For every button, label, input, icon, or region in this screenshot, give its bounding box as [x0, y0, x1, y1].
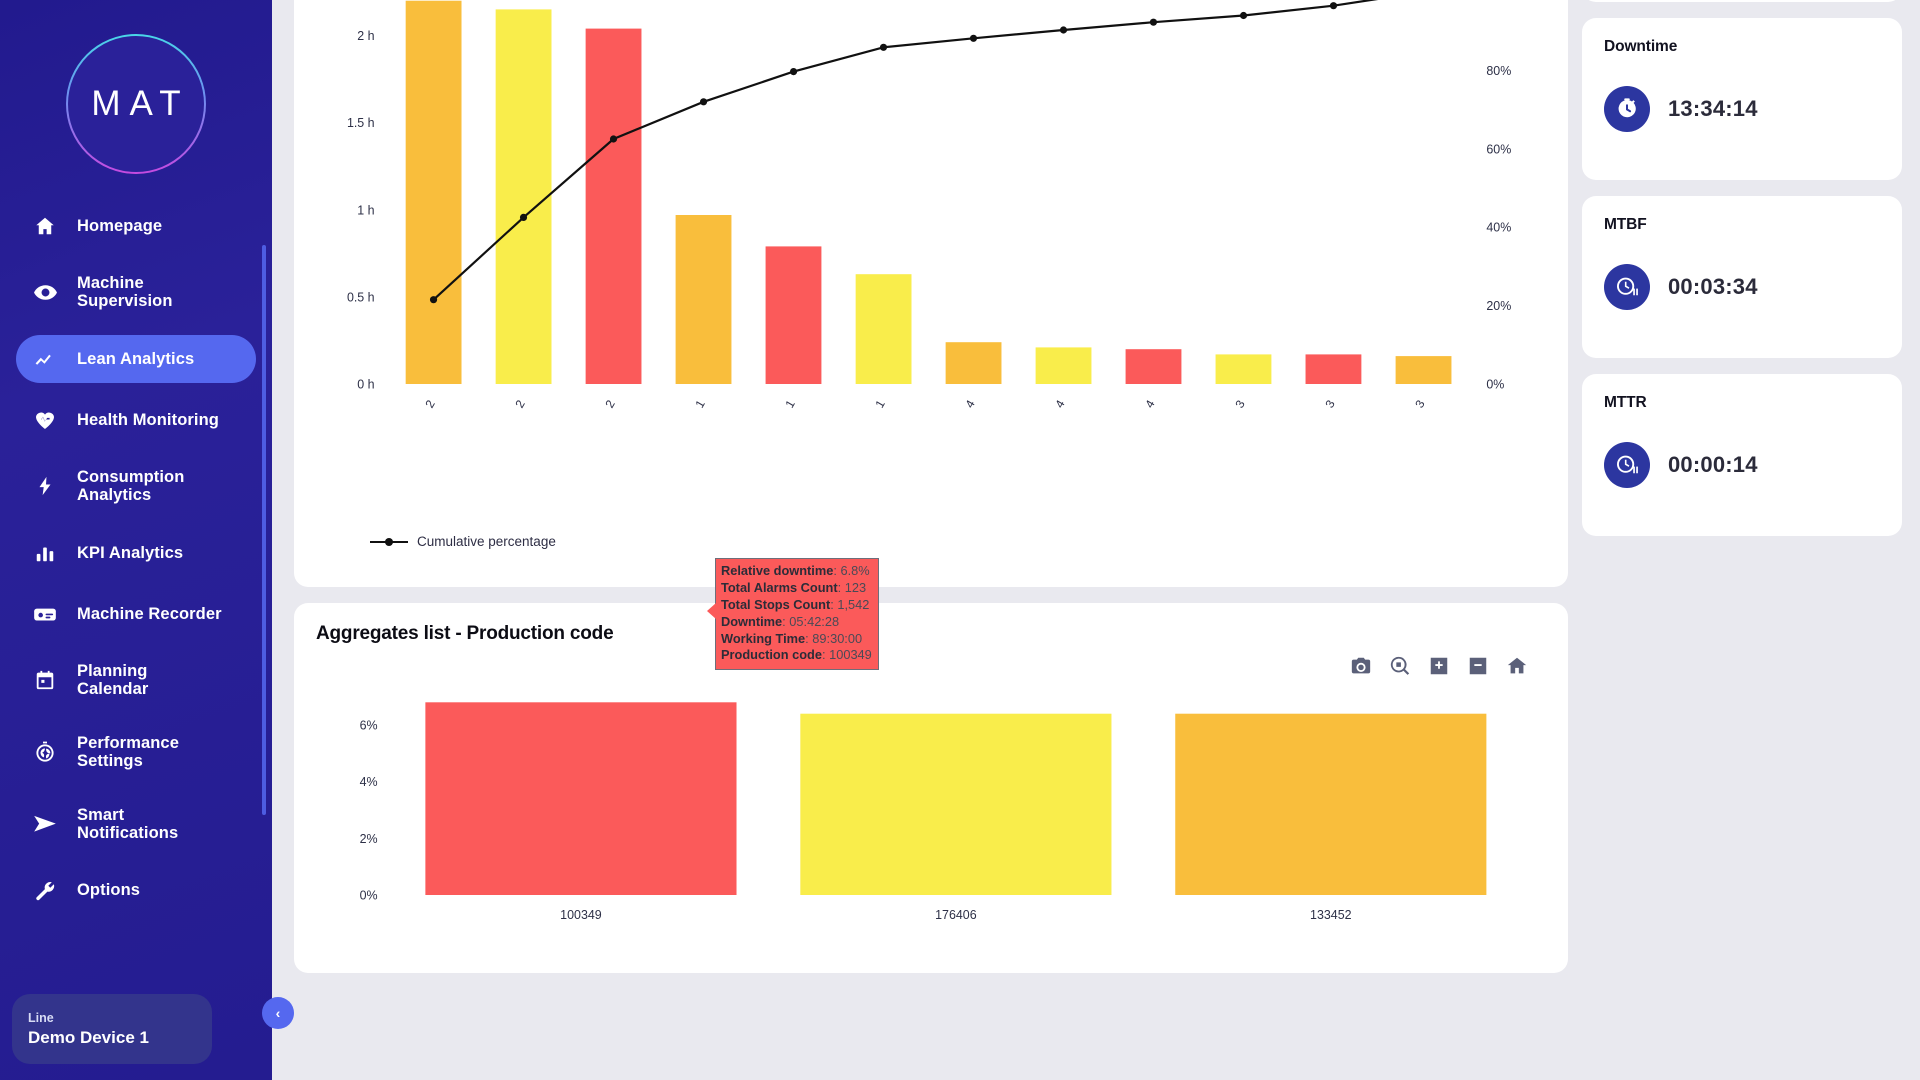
tooltip-row: Relative downtime: 6.8% — [721, 563, 872, 580]
zoom-select-icon[interactable] — [1389, 655, 1411, 677]
pareto-legend[interactable]: Cumulative percentage — [370, 534, 556, 549]
legend-label: Cumulative percentage — [417, 534, 556, 549]
kpi-card-mtbf: MTBF00:03:34 — [1582, 196, 1902, 358]
aggregates-x-axis: 100349176406133452 — [560, 908, 1351, 922]
svg-text:1: 1 — [872, 397, 888, 410]
send-icon — [30, 811, 60, 837]
tooltip-label: Working Time — [721, 631, 805, 646]
sidebar-item-health-monitoring[interactable]: Health Monitoring — [16, 396, 256, 444]
kpi-value: 00:00:14 — [1668, 452, 1758, 478]
aggregates-chart-svg[interactable]: 0%2%4%6% 100349176406133452 — [294, 683, 1568, 953]
svg-text:4%: 4% — [360, 775, 378, 789]
pareto-bar[interactable] — [676, 215, 732, 384]
svg-text:176406: 176406 — [935, 908, 977, 922]
recorder-icon — [30, 601, 60, 627]
app-logo: MAT — [66, 34, 206, 174]
clock-pause-icon — [1604, 264, 1650, 310]
kpi-title: Downtime — [1604, 38, 1880, 56]
pareto-y2-axis: 0%20%40%60%80%100% — [1486, 0, 1518, 392]
sidebar-item-label: Machine Recorder — [77, 605, 222, 623]
tooltip-value: 1,542 — [837, 597, 869, 612]
logo-text: MAT — [82, 84, 189, 124]
pareto-bar[interactable] — [946, 342, 1002, 384]
tooltip-value: 89:30:00 — [812, 631, 862, 646]
sidebar-scrollbar[interactable] — [262, 245, 266, 815]
sidebar-nav: HomepageMachine SupervisionLean Analytic… — [0, 202, 272, 928]
right-column: Downtime13:34:14MTBF00:03:34MTTR00:00:14 — [1582, 0, 1902, 1080]
kpi-list: Downtime13:34:14MTBF00:03:34MTTR00:00:14 — [1582, 18, 1902, 536]
eye-icon — [30, 279, 60, 305]
clock-pause-icon — [1604, 442, 1650, 488]
kpi-body: 13:34:14 — [1604, 86, 1880, 132]
home-icon — [30, 213, 60, 239]
svg-text:4: 4 — [1142, 397, 1158, 410]
aggregates-bars[interactable] — [425, 702, 1486, 895]
home-reset-icon[interactable] — [1506, 655, 1528, 677]
pareto-x-axis: 222111444333 — [422, 397, 1428, 410]
pareto-cumulative-line — [430, 0, 1427, 303]
svg-text:1: 1 — [782, 397, 798, 410]
sidebar-item-consumption-analytics[interactable]: Consumption Analytics — [16, 457, 256, 516]
sidebar-item-label: Homepage — [77, 217, 162, 235]
sidebar-item-machine-recorder[interactable]: Machine Recorder — [16, 590, 256, 638]
tooltip-row: Production code: 100349 — [721, 647, 872, 664]
tooltip-label: Total Stops Count — [721, 597, 830, 612]
sidebar-item-performance-settings[interactable]: Performance Settings — [16, 723, 256, 782]
kpi-body: 00:03:34 — [1604, 264, 1880, 310]
svg-text:0.5 h: 0.5 h — [347, 290, 375, 304]
kpi-card-mttr: MTTR00:00:14 — [1582, 374, 1902, 536]
svg-text:100349: 100349 — [560, 908, 602, 922]
svg-text:1 h: 1 h — [357, 203, 374, 217]
kpi-value: 13:34:14 — [1668, 96, 1758, 122]
aggregate-bar[interactable] — [1175, 714, 1486, 895]
svg-text:2: 2 — [422, 397, 438, 410]
tooltip-row: Total Stops Count: 1,542 — [721, 597, 872, 614]
pareto-bar[interactable] — [1396, 356, 1452, 384]
sidebar-item-label: Options — [77, 881, 140, 899]
aggregate-bar[interactable] — [800, 714, 1111, 895]
svg-text:2: 2 — [512, 397, 528, 410]
svg-text:0%: 0% — [360, 888, 378, 902]
tooltip-label: Downtime — [721, 614, 782, 629]
svg-text:3: 3 — [1322, 397, 1338, 410]
sidebar-item-label: KPI Analytics — [77, 544, 183, 562]
aggregates-tooltip: Relative downtime: 6.8%Total Alarms Coun… — [715, 558, 879, 670]
sidebar-item-homepage[interactable]: Homepage — [16, 202, 256, 250]
svg-text:2: 2 — [602, 397, 618, 410]
left-column: 0 h0.5 h1 h1.5 h2 h 0%20%40%60%80%100% 2… — [294, 0, 1568, 1080]
tooltip-label: Total Alarms Count — [721, 580, 838, 595]
sidebar-item-planning-calendar[interactable]: Planning Calendar — [16, 651, 256, 710]
stopwatch-icon — [1604, 86, 1650, 132]
kpi-body: 00:00:14 — [1604, 442, 1880, 488]
sidebar-item-label: Health Monitoring — [77, 411, 219, 429]
device-name: Demo Device 1 — [28, 1028, 212, 1048]
sidebar-item-label: Smart Notifications — [77, 806, 178, 843]
svg-text:4: 4 — [1052, 397, 1068, 410]
plot-toolbar — [1350, 655, 1528, 677]
legend-line-marker — [370, 541, 408, 543]
pareto-bar[interactable] — [1306, 354, 1362, 384]
pareto-bar[interactable] — [856, 274, 912, 384]
svg-text:40%: 40% — [1486, 221, 1511, 235]
sidebar-item-options[interactable]: Options — [16, 867, 256, 915]
device-selector[interactable]: Line Demo Device 1 — [12, 994, 212, 1064]
aggregates-card: Aggregates list - Production code — [294, 603, 1568, 973]
trend-line-icon — [30, 346, 60, 372]
pareto-bar[interactable] — [1126, 349, 1182, 384]
pareto-bar[interactable] — [1216, 354, 1272, 384]
svg-text:20%: 20% — [1486, 299, 1511, 313]
zoom-out-icon[interactable] — [1467, 655, 1489, 677]
bar-chart-icon — [30, 540, 60, 566]
sidebar-item-label: Machine Supervision — [77, 274, 173, 311]
zoom-in-icon[interactable] — [1428, 655, 1450, 677]
app-root: MAT HomepageMachine SupervisionLean Anal… — [0, 0, 1920, 1080]
heartbeat-icon — [30, 407, 60, 433]
svg-text:80%: 80% — [1486, 64, 1511, 78]
sidebar-item-label: Performance Settings — [77, 734, 179, 771]
svg-text:133452: 133452 — [1310, 908, 1352, 922]
svg-text:2 h: 2 h — [357, 29, 374, 43]
tooltip-value: 123 — [845, 580, 866, 595]
svg-text:60%: 60% — [1486, 142, 1511, 156]
aggregates-title: Aggregates list - Production code — [316, 623, 1544, 645]
tooltip-row: Total Alarms Count: 123 — [721, 580, 872, 597]
kpi-card-partial-top — [1582, 0, 1902, 2]
tooltip-value: 05:42:28 — [789, 614, 839, 629]
tooltip-label: Relative downtime — [721, 563, 833, 578]
gauge-icon — [30, 739, 60, 765]
device-caption: Line — [28, 1011, 212, 1025]
kpi-card-downtime: Downtime13:34:14 — [1582, 18, 1902, 180]
svg-text:0%: 0% — [1486, 377, 1504, 391]
aggregate-bar[interactable] — [425, 702, 736, 895]
tooltip-label: Production code — [721, 647, 822, 662]
svg-text:0 h: 0 h — [357, 377, 374, 391]
sidebar-item-smart-notifications[interactable]: Smart Notifications — [16, 795, 256, 854]
svg-text:6%: 6% — [360, 718, 378, 732]
svg-text:3: 3 — [1412, 397, 1428, 410]
sidebar: MAT HomepageMachine SupervisionLean Anal… — [0, 0, 272, 1080]
pareto-chart-svg[interactable]: 0 h0.5 h1 h1.5 h2 h 0%20%40%60%80%100% 2… — [294, 0, 1568, 504]
svg-text:3: 3 — [1232, 397, 1248, 410]
pareto-bar[interactable] — [586, 29, 642, 384]
main-content: 0 h0.5 h1 h1.5 h2 h 0%20%40%60%80%100% 2… — [272, 0, 1920, 1080]
kpi-title: MTTR — [1604, 394, 1880, 412]
svg-text:2%: 2% — [360, 832, 378, 846]
svg-text:1.5 h: 1.5 h — [347, 116, 375, 130]
tooltip-arrow — [707, 603, 716, 619]
bolt-icon — [30, 473, 60, 499]
sidebar-item-machine-supervision[interactable]: Machine Supervision — [16, 263, 256, 322]
sidebar-item-label: Consumption Analytics — [77, 468, 184, 505]
kpi-value: 00:03:34 — [1668, 274, 1758, 300]
pareto-chart-card: 0 h0.5 h1 h1.5 h2 h 0%20%40%60%80%100% 2… — [294, 0, 1568, 587]
tooltip-value: 6.8% — [840, 563, 869, 578]
sidebar-item-label: Lean Analytics — [77, 350, 194, 368]
camera-icon[interactable] — [1350, 655, 1372, 677]
sidebar-item-label: Planning Calendar — [77, 662, 148, 699]
pareto-bar[interactable] — [1036, 347, 1092, 384]
sidebar-collapse-button[interactable]: ‹ — [262, 997, 294, 1029]
tooltip-row: Working Time: 89:30:00 — [721, 631, 872, 648]
pareto-bars[interactable] — [406, 1, 1452, 384]
tooltip-row: Downtime: 05:42:28 — [721, 614, 872, 631]
kpi-title: MTBF — [1604, 216, 1880, 234]
sidebar-item-lean-analytics[interactable]: Lean Analytics — [16, 335, 256, 383]
svg-text:1: 1 — [692, 397, 708, 410]
pareto-y-axis: 0 h0.5 h1 h1.5 h2 h — [347, 29, 375, 391]
calendar-icon — [30, 667, 60, 693]
svg-text:4: 4 — [962, 397, 978, 410]
aggregates-y-axis: 0%2%4%6% — [360, 718, 378, 902]
sidebar-item-kpi-analytics[interactable]: KPI Analytics — [16, 529, 256, 577]
wrench-icon — [30, 878, 60, 904]
pareto-bar[interactable] — [406, 1, 462, 384]
tooltip-value: 100349 — [829, 647, 872, 662]
pareto-bar[interactable] — [766, 246, 822, 384]
pareto-bar[interactable] — [496, 9, 552, 384]
